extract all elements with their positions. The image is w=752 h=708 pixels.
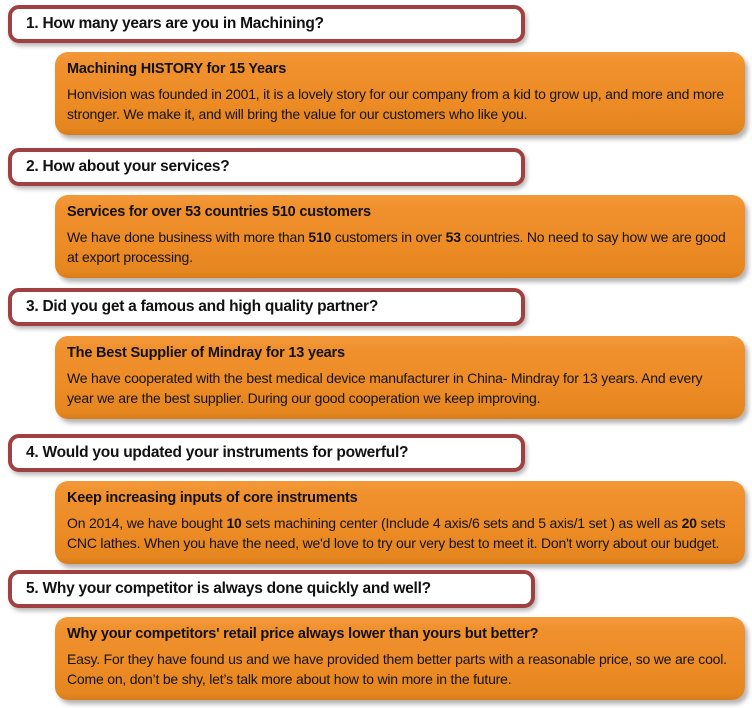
- question-box-1[interactable]: 1. How many years are you in Machining?: [8, 5, 525, 43]
- answer-box-2: Services for over 53 countries 510 custo…: [55, 195, 745, 278]
- answer-title-1: Machining HISTORY for 15 Years: [67, 61, 731, 78]
- question-box-3[interactable]: 3. Did you get a famous and high quality…: [8, 288, 525, 326]
- answer-box-3: The Best Supplier of Mindray for 13 year…: [55, 336, 745, 419]
- answer-body-2: We have done business with more than 510…: [67, 228, 731, 268]
- question-text-2: 2. How about your services?: [26, 159, 229, 175]
- answer-title-4: Keep increasing inputs of core instrumen…: [67, 490, 731, 507]
- answer-title-5: Why your competitors' retail price alway…: [67, 626, 731, 643]
- faq-item-1: 1. How many years are you in Machining? …: [0, 5, 752, 135]
- faq-item-4: 4. Would you updated your instruments fo…: [0, 434, 752, 564]
- answer-body-4: On 2014, we have bought 10 sets machinin…: [67, 514, 731, 554]
- faq-board: 1. How many years are you in Machining? …: [0, 0, 752, 708]
- question-box-4[interactable]: 4. Would you updated your instruments fo…: [8, 434, 525, 472]
- answer-body-3: We have cooperated with the best medical…: [67, 369, 731, 409]
- answer-box-1: Machining HISTORY for 15 Years Honvision…: [55, 52, 745, 135]
- question-box-5[interactable]: 5. Why your competitor is always done qu…: [8, 570, 535, 608]
- question-text-4: 4. Would you updated your instruments fo…: [26, 445, 408, 461]
- answer-title-3: The Best Supplier of Mindray for 13 year…: [67, 345, 731, 362]
- answer-title-2: Services for over 53 countries 510 custo…: [67, 204, 731, 221]
- faq-item-5: 5. Why your competitor is always done qu…: [0, 570, 752, 700]
- answer-box-5: Why your competitors' retail price alway…: [55, 617, 745, 700]
- question-text-1: 1. How many years are you in Machining?: [26, 16, 324, 32]
- question-box-2[interactable]: 2. How about your services?: [8, 148, 525, 186]
- question-text-3: 3. Did you get a famous and high quality…: [26, 299, 378, 315]
- faq-item-3: 3. Did you get a famous and high quality…: [0, 288, 752, 419]
- question-text-5: 5. Why your competitor is always done qu…: [26, 581, 431, 597]
- answer-body-1: Honvision was founded in 2001, it is a l…: [67, 85, 731, 125]
- faq-item-2: 2. How about your services? Services for…: [0, 148, 752, 278]
- answer-body-5: Easy. For they have found us and we have…: [67, 650, 731, 690]
- answer-box-4: Keep increasing inputs of core instrumen…: [55, 481, 745, 564]
